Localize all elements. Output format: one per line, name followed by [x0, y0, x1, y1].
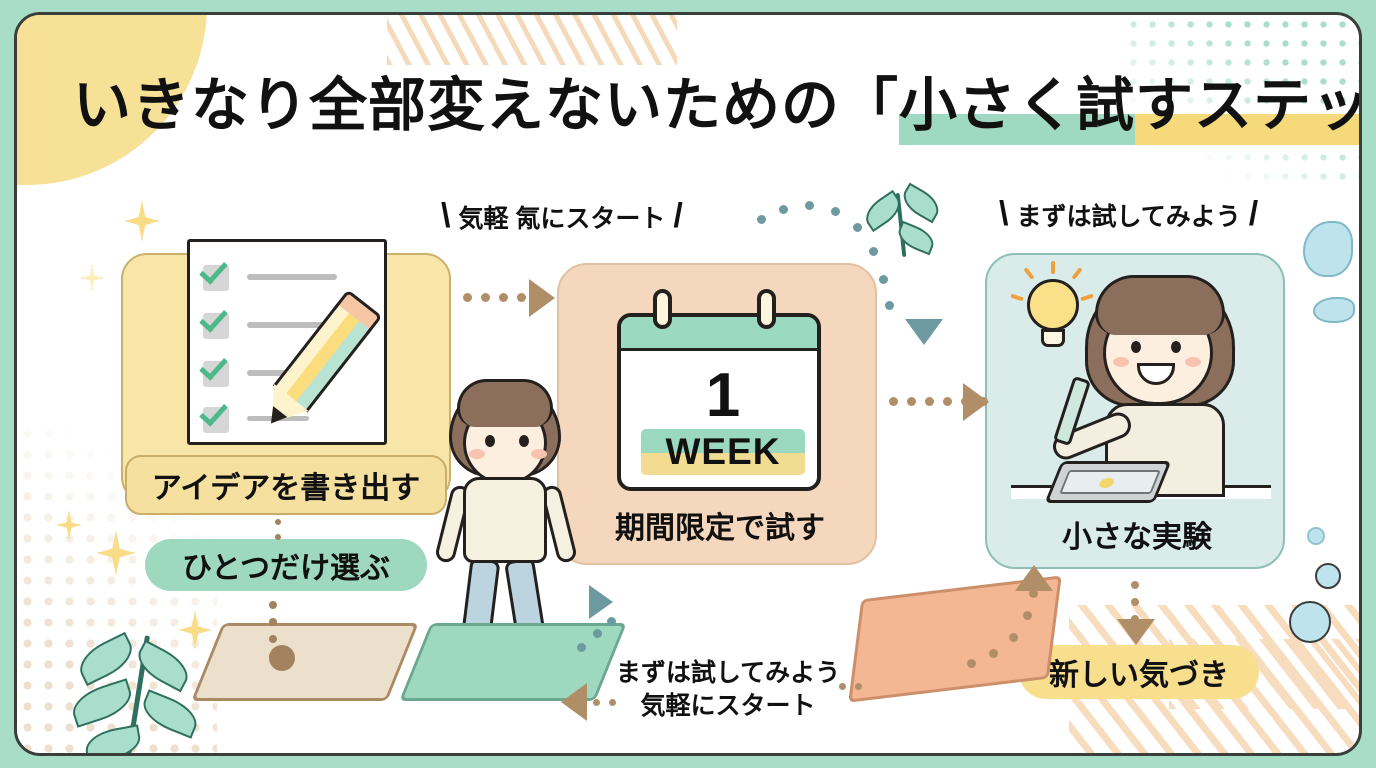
title-highlight-green: 小さく試 — [899, 67, 1135, 145]
orange-stripes-top-decoration — [387, 12, 677, 65]
title-part-1: いきなり全部変えないための「 — [73, 67, 899, 145]
caption-line-2: 気軽にスタート — [603, 690, 853, 723]
arrow-head-curve-top — [905, 319, 943, 345]
bubble-icon — [1303, 221, 1353, 277]
drop-connector — [269, 601, 277, 669]
ribbon-start-casually: \ 気軽 氝にスタート / — [441, 197, 683, 236]
infographic-card: いきなり全部変えないための「 小さく試 すステップ 」 \ 気軽 氝にスタート … — [14, 12, 1362, 756]
page-title: いきなり全部変えないための「 小さく試 すステップ 」 — [73, 67, 1362, 145]
calendar-unit: WEEK — [641, 429, 805, 475]
ribbon-try-first: \ まずは試してみよう / — [999, 195, 1258, 234]
arrow-head-experiment-to-new — [1117, 619, 1155, 645]
sparkle-icon — [97, 531, 135, 575]
ribbon-left-slash: \ — [441, 197, 450, 236]
leaf-icon — [63, 625, 213, 756]
step-label-idea: アイデアを書き出す — [125, 455, 447, 515]
arrow-head-caption-left — [561, 683, 587, 721]
ribbon-text: 気軽 氝にスタート — [458, 199, 665, 235]
ribbon-right-slash: / — [673, 197, 682, 236]
calendar-number: 1 — [621, 365, 825, 427]
bubble-icon — [1315, 563, 1341, 589]
step-sublabel-pick-one: ひとつだけ選ぶ — [145, 539, 427, 591]
drop-connector — [275, 519, 283, 549]
lightbulb-icon — [1017, 269, 1089, 357]
bottom-caption: まずは試してみよう 気軽にスタート — [603, 657, 853, 723]
arrow-head-week-to-experiment — [963, 383, 989, 421]
caption-line-1: まずは試してみよう — [603, 657, 853, 690]
ribbon-text: まずは試してみよう — [1016, 197, 1240, 233]
arrow-head-stone-teal — [589, 585, 613, 619]
title-highlight-yellow: すステップ — [1135, 67, 1362, 145]
sparkle-icon — [125, 201, 159, 241]
stepping-stone-1 — [191, 623, 419, 701]
step-label-experiment: 小さな実験 — [997, 509, 1277, 559]
bubble-icon — [1313, 297, 1355, 323]
bubble-icon — [1289, 601, 1331, 643]
tablet-icon — [1045, 461, 1172, 503]
arrow-curve-top — [757, 201, 937, 331]
infographic-canvas: いきなり全部変えないための「 小さく試 すステップ 」 \ 気軽 氝にスタート … — [0, 0, 1376, 768]
sparkle-icon — [57, 511, 81, 539]
ribbon-right-slash: / — [1249, 195, 1258, 234]
ribbon-left-slash: \ — [999, 195, 1008, 234]
sparkle-icon — [81, 265, 103, 291]
step-label-week: 期間限定で試す — [577, 501, 863, 549]
arrow-stone-teal-dots — [577, 615, 637, 655]
bubble-icon — [1307, 527, 1325, 545]
arrow-head-stone-to-experiment — [1015, 565, 1053, 591]
arrow-head-idea-to-week — [529, 279, 555, 317]
